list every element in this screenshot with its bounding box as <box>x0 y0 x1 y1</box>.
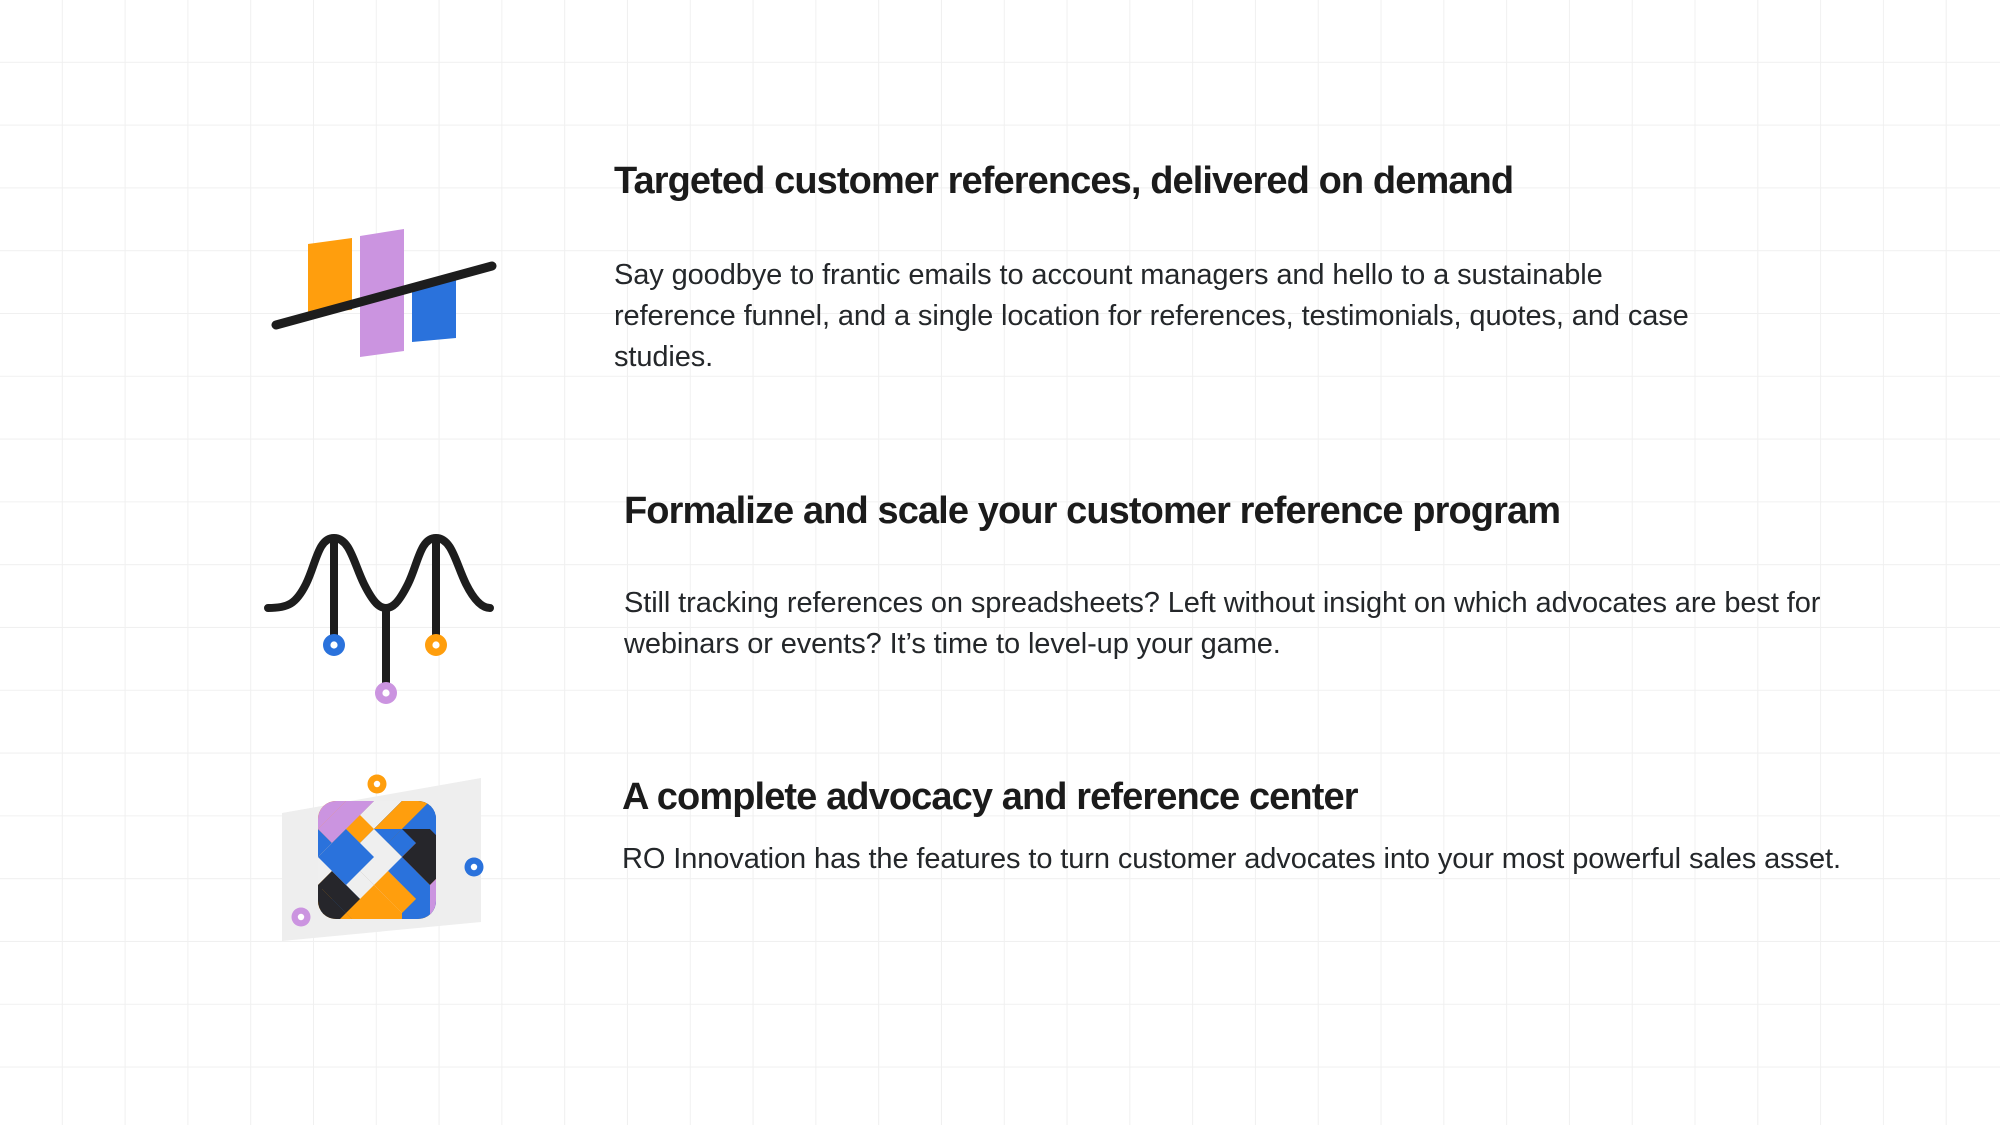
feature-body: Say goodbye to frantic emails to account… <box>614 255 1704 379</box>
feature-body: Still tracking references on spreadsheet… <box>624 583 1854 665</box>
accent-dot-purple-center <box>298 914 304 920</box>
wave-curve <box>268 538 490 608</box>
datapoint-purple-center <box>382 689 389 696</box>
feature-heading: Formalize and scale your customer refere… <box>624 490 1854 533</box>
feature-text-targeted-references: Targeted customer references, delivered … <box>614 160 1734 378</box>
feature-heading: A complete advocacy and reference center <box>622 776 1862 819</box>
feature-heading: Targeted customer references, delivered … <box>614 160 1734 203</box>
wave-datapoints-icon <box>258 516 498 666</box>
bar-orange <box>308 238 352 312</box>
accent-dot-orange-center <box>374 781 380 787</box>
datapoint-orange-center <box>432 641 439 648</box>
datapoint-blue-center <box>330 641 337 648</box>
woven-tile-logo-icon <box>278 766 498 946</box>
feature-text-formalize-scale: Formalize and scale your customer refere… <box>624 490 1854 665</box>
feature-list: Targeted customer references, delivered … <box>0 0 2000 1125</box>
accent-dot-blue-center <box>471 864 477 870</box>
bar-chart-trendline-icon <box>266 218 506 358</box>
feature-body: RO Innovation has the features to turn c… <box>622 839 1862 880</box>
feature-text-advocacy-center: A complete advocacy and reference center… <box>622 776 1862 880</box>
